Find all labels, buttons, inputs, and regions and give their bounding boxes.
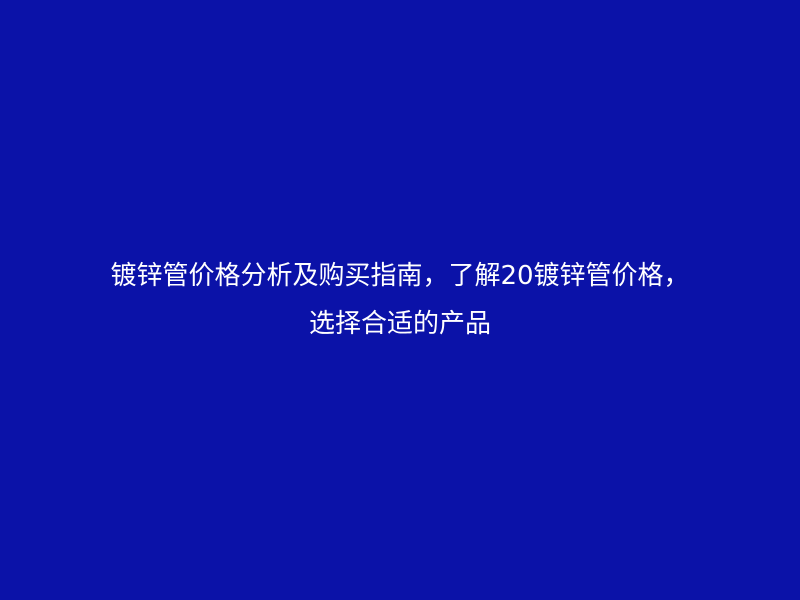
- headline-line-2: 选择合适的产品: [50, 300, 750, 348]
- headline-line-1: 镀锌管价格分析及购买指南，了解20镀锌管价格，: [50, 252, 750, 300]
- headline-block: 镀锌管价格分析及购买指南，了解20镀锌管价格， 选择合适的产品: [50, 252, 750, 348]
- banner-card: 镀锌管价格分析及购买指南，了解20镀锌管价格， 选择合适的产品: [0, 0, 800, 600]
